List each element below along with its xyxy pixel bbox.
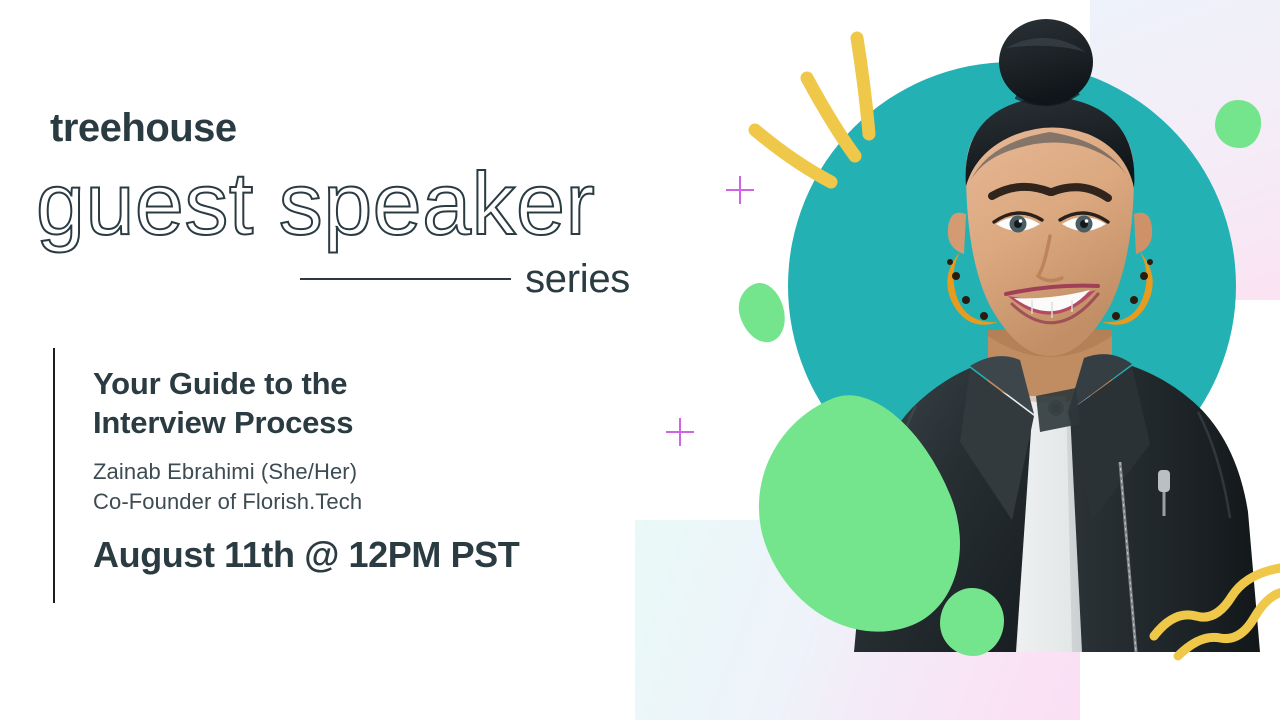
- brand-wordmark: treehouse: [50, 108, 237, 148]
- talk-title: Your Guide to the Interview Process: [93, 364, 653, 442]
- yellow-sparkle-strokes-icon: [745, 30, 905, 230]
- headline-outline: guest speaker: [36, 158, 595, 250]
- talk-title-line-1: Your Guide to the: [93, 364, 653, 403]
- promo-slide: treehouse guest speaker series Your Guid…: [0, 0, 1280, 720]
- green-blob-small-left: [733, 278, 792, 348]
- series-row: series: [300, 255, 630, 303]
- speaker-role: Co-Founder of Florish.Tech: [93, 487, 653, 516]
- text-column: treehouse guest speaker series Your Guid…: [0, 0, 680, 720]
- yellow-squiggle-strokes-icon: [1150, 560, 1280, 670]
- green-blob-round: [940, 588, 1004, 656]
- event-info-block: Your Guide to the Interview Process Zain…: [53, 348, 653, 603]
- talk-title-line-2: Interview Process: [93, 403, 653, 442]
- event-datetime: August 11th @ 12PM PST: [93, 534, 653, 576]
- plus-mark-upper-icon: [726, 176, 754, 204]
- series-label: series: [525, 259, 630, 299]
- speaker-name: Zainab Ebrahimi (She/Her): [93, 457, 653, 486]
- series-divider-rule: [300, 278, 511, 280]
